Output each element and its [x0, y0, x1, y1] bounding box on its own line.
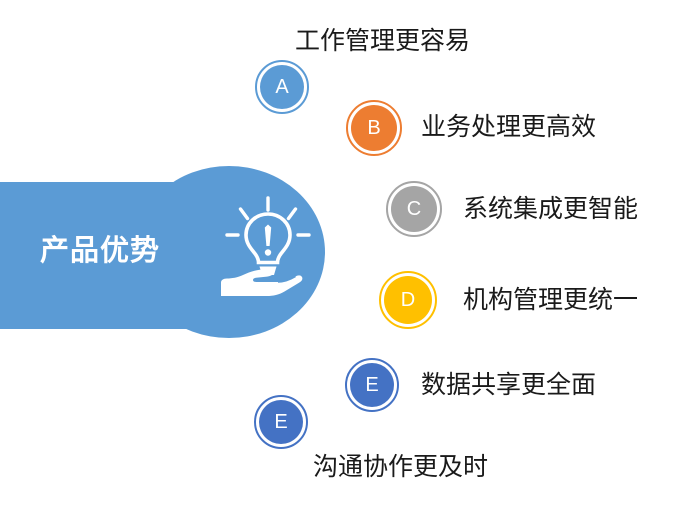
infographic-canvas: 产品优势 A 工作管理更 [0, 0, 673, 515]
badge-d-letter: D [401, 290, 415, 310]
badge-b[interactable]: B [346, 100, 402, 156]
banner-title: 产品优势 [0, 234, 200, 268]
badge-c[interactable]: C [386, 181, 442, 237]
badge-d-core: D [384, 276, 432, 324]
badge-e-lower[interactable]: E [254, 395, 308, 449]
hand-holding-lightbulb-icon [218, 196, 318, 304]
badge-a-core: A [260, 65, 304, 109]
badge-e-upper-letter: E [365, 375, 378, 395]
badge-d[interactable]: D [379, 271, 437, 329]
badge-b-core: B [351, 105, 397, 151]
badge-c-letter: C [407, 199, 421, 219]
badge-e-upper[interactable]: E [345, 358, 399, 412]
item-label-c: 系统集成更智能 [463, 194, 638, 224]
badge-a[interactable]: A [255, 60, 309, 114]
badge-e-lower-letter: E [274, 412, 287, 432]
badge-a-letter: A [275, 77, 288, 97]
item-label-d: 机构管理更统一 [463, 285, 638, 315]
item-label-b: 业务处理更高效 [421, 112, 596, 142]
badge-e-lower-core: E [259, 400, 303, 444]
badge-e-upper-core: E [350, 363, 394, 407]
item-label-e-lower: 沟通协作更及时 [313, 452, 488, 482]
badge-c-core: C [391, 186, 437, 232]
item-label-e-upper: 数据共享更全面 [421, 370, 596, 400]
item-label-a: 工作管理更容易 [295, 26, 470, 56]
badge-b-letter: B [367, 118, 380, 138]
